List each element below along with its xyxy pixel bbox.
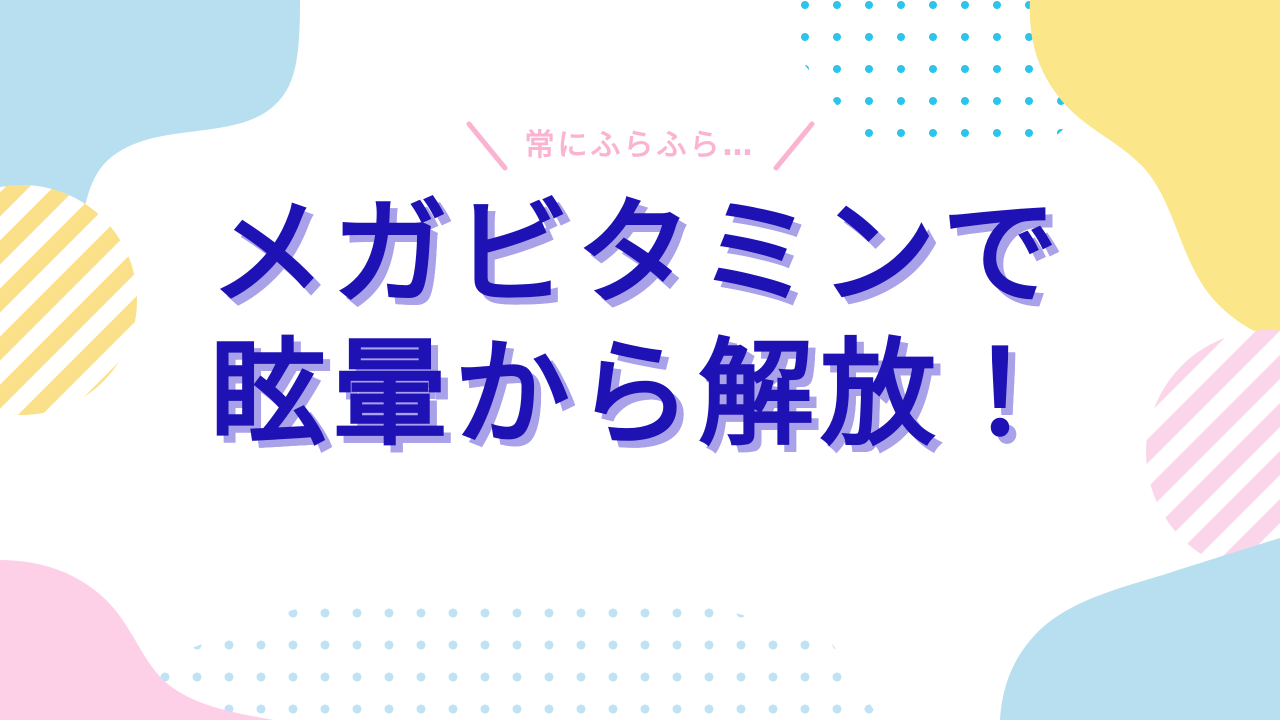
poster-content: 常にふらふら… メガビタミンで 眩暈から解放！ [0,0,1280,720]
left-slash-icon [465,120,511,172]
poster-canvas: 常にふらふら… メガビタミンで 眩暈から解放！ [0,0,1280,720]
eyebrow-text: 常にふらふら… [525,131,756,161]
headline-line-1: メガビタミンで [210,188,1070,319]
headline-line-2: 眩暈から解放！ [210,329,1070,460]
eyebrow-block: 常にふらふら… [465,118,816,174]
headline-block: メガビタミンで 眩暈から解放！ [210,188,1070,460]
right-slash-icon [770,120,816,172]
